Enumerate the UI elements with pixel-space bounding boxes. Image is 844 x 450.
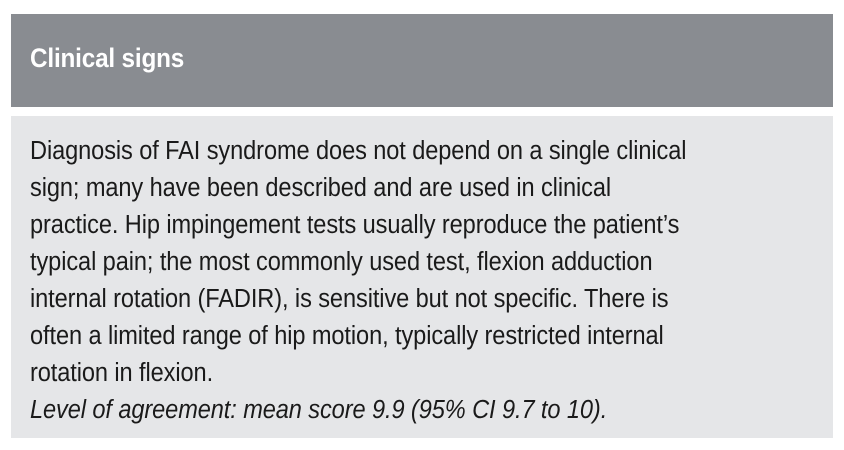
level-of-agreement-text: Level of agreement: mean score 9.9 (95% … xyxy=(30,392,818,429)
body-paragraph: Diagnosis of FAI syndrome does not depen… xyxy=(30,133,818,392)
document-page: Clinical signs Diagnosis of FAI syndrome… xyxy=(0,0,844,450)
panel-divider xyxy=(11,107,833,116)
body-line: rotation in flexion. xyxy=(30,355,818,392)
panel-body: Diagnosis of FAI syndrome does not depen… xyxy=(11,116,833,438)
body-line: practice. Hip impingement tests usually … xyxy=(30,207,818,244)
body-line: typical pain; the most commonly used tes… xyxy=(30,244,818,281)
page-title: Clinical signs xyxy=(30,43,184,74)
body-line: often a limited range of hip motion, typ… xyxy=(30,318,818,355)
clinical-signs-panel: Clinical signs Diagnosis of FAI syndrome… xyxy=(11,14,833,438)
body-line: Diagnosis of FAI syndrome does not depen… xyxy=(30,133,818,170)
body-line: sign; many have been described and are u… xyxy=(30,170,818,207)
panel-header: Clinical signs xyxy=(11,14,833,107)
body-line: internal rotation (FADIR), is sensitive … xyxy=(30,281,818,318)
